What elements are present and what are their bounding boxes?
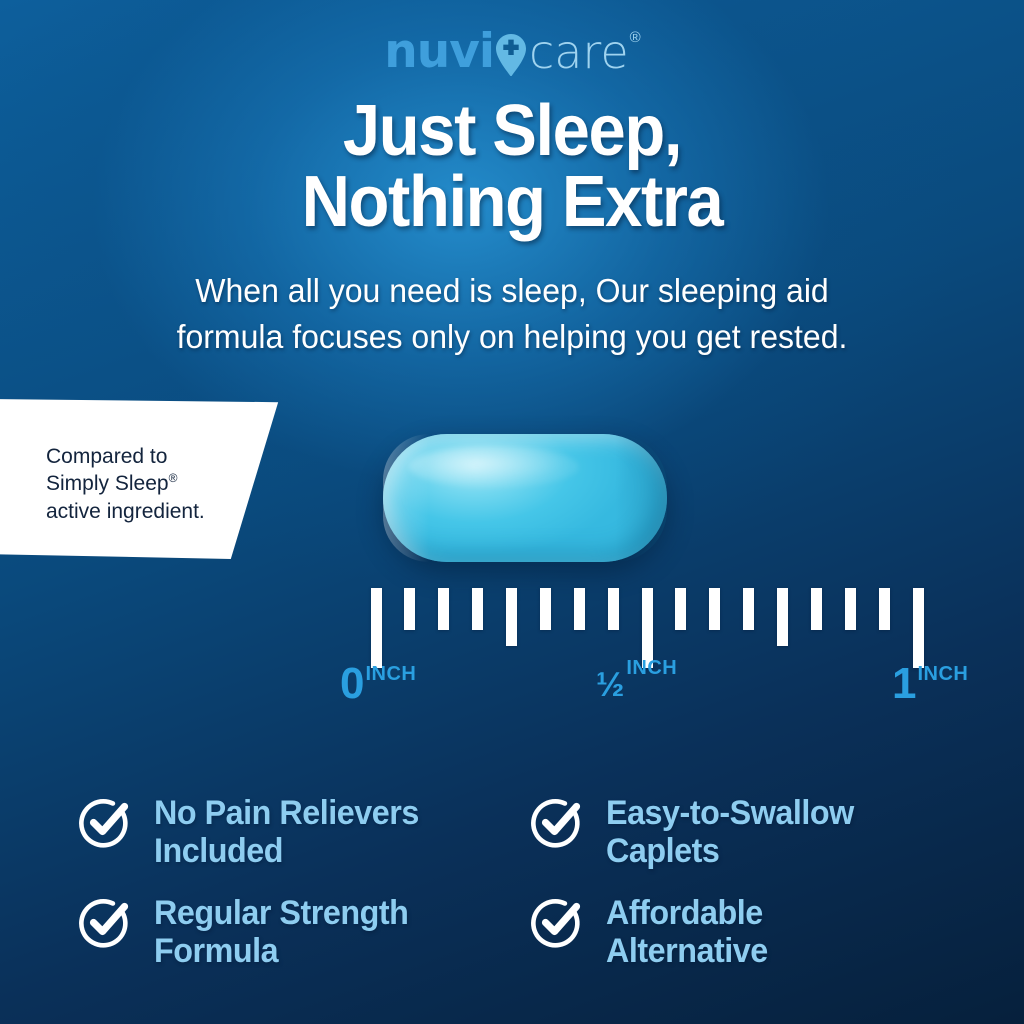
ruler-label-0-unit: INCH xyxy=(365,663,416,685)
caplet-gloss-highlight xyxy=(409,446,579,488)
check-circle-icon xyxy=(530,794,586,850)
subheadline-line-1: When all you need is sleep, Our sleeping… xyxy=(195,272,828,309)
comparison-line-3: active ingredient. xyxy=(46,498,205,525)
caplet-left-highlight xyxy=(383,434,429,562)
comparison-registered-symbol: ® xyxy=(169,471,178,485)
product-marketing-banner: nuvi care ® Just Sleep, Nothing Extra Wh… xyxy=(0,0,1024,1024)
ruler-tick xyxy=(438,588,449,630)
ruler-tick xyxy=(371,588,382,668)
headline-line-1: Just Sleep, xyxy=(343,91,681,171)
feature-label: AffordableAlternative xyxy=(606,892,768,970)
comparison-callout-text: Compared to Simply Sleep® active ingredi… xyxy=(46,443,205,525)
ruler-label-0-value: 0 xyxy=(340,659,363,708)
feature-label: No Pain RelieversIncluded xyxy=(154,792,419,870)
check-circle-icon xyxy=(530,894,586,950)
map-pin-medical-cross-icon xyxy=(494,33,528,77)
ruler-label-1-value: 1 xyxy=(892,659,915,708)
ruler-tick xyxy=(540,588,551,630)
headline-line-2: Nothing Extra xyxy=(36,167,988,238)
feature-label: Regular StrengthFormula xyxy=(154,892,408,970)
subheadline: When all you need is sleep, Our sleeping… xyxy=(15,268,1008,359)
ruler-tick xyxy=(879,588,890,630)
ruler-tick xyxy=(675,588,686,630)
ruler-tick xyxy=(608,588,619,630)
ruler-tick xyxy=(574,588,585,630)
ruler-tick xyxy=(506,588,517,646)
caplet-body xyxy=(383,434,667,562)
feature-list: No Pain RelieversIncluded Easy-to-Swallo… xyxy=(78,792,978,992)
comparison-brand-name: Simply Sleep xyxy=(46,472,169,495)
subheadline-line-2: formula focuses only on helping you get … xyxy=(15,314,1008,360)
ruler-tick xyxy=(845,588,856,630)
feature-label-line-2: Included xyxy=(154,832,419,870)
ruler-tick xyxy=(709,588,720,630)
feature-label: Easy-to-SwallowCaplets xyxy=(606,792,854,870)
ruler-tick xyxy=(913,588,924,668)
ruler-tick xyxy=(404,588,415,630)
feature-label-line-2: Alternative xyxy=(606,932,768,970)
ruler-tick xyxy=(472,588,483,630)
brand-logo[interactable]: nuvi care ® xyxy=(0,28,1024,75)
product-caplet-image xyxy=(383,434,667,562)
ruler-tick xyxy=(777,588,788,646)
ruler-label-1-inch: 1INCH xyxy=(892,662,966,706)
feature-item: Easy-to-SwallowCaplets xyxy=(530,792,978,892)
registered-trademark-symbol: ® xyxy=(630,29,641,46)
check-circle-icon xyxy=(78,894,134,950)
ruler-label-half-value: ½ xyxy=(596,668,624,702)
comparison-callout-banner: Compared to Simply Sleep® active ingredi… xyxy=(0,399,290,559)
ruler-label-half-inch: ½INCH xyxy=(596,664,675,698)
ruler-label-group: 0INCH ½INCH 1INCH xyxy=(0,662,1024,722)
caplet-right-shadow xyxy=(615,434,667,562)
headline: Just Sleep, Nothing Extra xyxy=(36,96,988,237)
feature-item: Regular StrengthFormula xyxy=(78,892,530,992)
ruler-label-half-unit: INCH xyxy=(626,657,677,679)
check-circle-icon xyxy=(78,794,134,850)
feature-item: No Pain RelieversIncluded xyxy=(78,792,530,892)
feature-label-line-1: No Pain Relievers xyxy=(154,794,419,832)
feature-label-line-2: Caplets xyxy=(606,832,854,870)
comparison-line-2: Simply Sleep® xyxy=(46,470,205,497)
brand-name-light: care xyxy=(529,29,629,75)
comparison-line-1: Compared to xyxy=(46,443,205,470)
brand-name-bold: nuvi xyxy=(384,28,494,75)
feature-label-line-1: Easy-to-Swallow xyxy=(606,794,854,832)
feature-label-line-2: Formula xyxy=(154,932,408,970)
ruler-label-1-unit: INCH xyxy=(917,663,968,685)
ruler-tick xyxy=(743,588,754,630)
ruler-tick xyxy=(811,588,822,630)
feature-label-line-1: Regular Strength xyxy=(154,894,408,932)
ruler-label-0-inch: 0INCH xyxy=(340,662,414,706)
feature-item: AffordableAlternative xyxy=(530,892,978,992)
ruler-tick xyxy=(642,588,653,668)
feature-label-line-1: Affordable xyxy=(606,894,768,932)
